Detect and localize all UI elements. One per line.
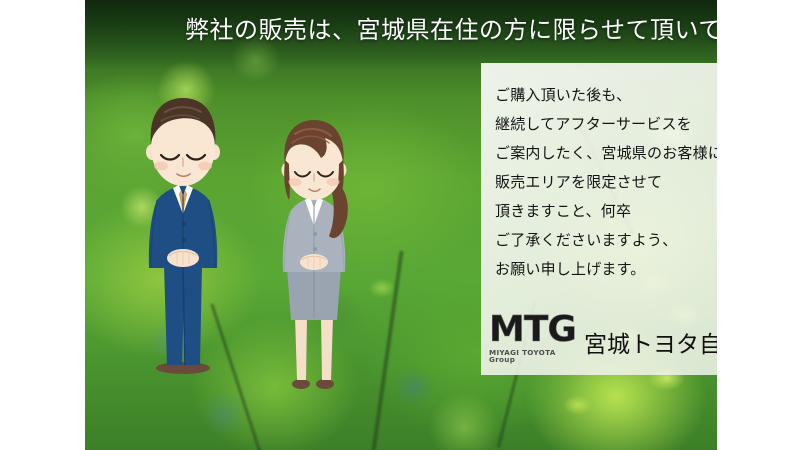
message-line: 頂きますこと、何卒 xyxy=(495,197,717,226)
message-line: ご了承くださいますよう、 xyxy=(495,226,717,255)
mtg-logo-mark: MTG MIYAGI TOYOTA Group xyxy=(489,313,576,363)
foliage-background-photo: 弊社の販売は、宮城県在住の方に限らせて頂いております。 ご購入頂いた後も、 継続… xyxy=(85,0,717,450)
mtg-logo-letters: MTG xyxy=(489,313,576,347)
message-panel-text: ご購入頂いた後も、 継続してアフターサービスを ご案内したく、宮城県のお客様に … xyxy=(495,81,717,284)
message-panel: ご購入頂いた後も、 継続してアフターサービスを ご案内したく、宮城県のお客様に … xyxy=(481,63,717,375)
message-line: ご案内したく、宮城県のお客様に xyxy=(495,139,717,168)
message-line: ご購入頂いた後も、 xyxy=(495,81,717,110)
company-name-label: 宮城トヨタ自動車 xyxy=(584,331,717,363)
mtg-logo-tagline: MIYAGI TOYOTA Group xyxy=(489,349,576,363)
message-line: 販売エリアを限定させて xyxy=(495,168,717,197)
slide-canvas: 弊社の販売は、宮城県在住の方に限らせて頂いております。 ご購入頂いた後も、 継続… xyxy=(0,0,800,450)
bowing-businesswoman-figure xyxy=(282,120,348,389)
bowing-businessman-figure xyxy=(146,98,220,374)
company-logo: MTG MIYAGI TOYOTA Group 宮城トヨタ自動車 xyxy=(489,313,717,363)
message-line: 継続してアフターサービスを xyxy=(495,110,717,139)
slide-headline: 弊社の販売は、宮城県在住の方に限らせて頂いております。 xyxy=(185,16,717,46)
message-line: お願い申し上げます。 xyxy=(495,255,717,284)
